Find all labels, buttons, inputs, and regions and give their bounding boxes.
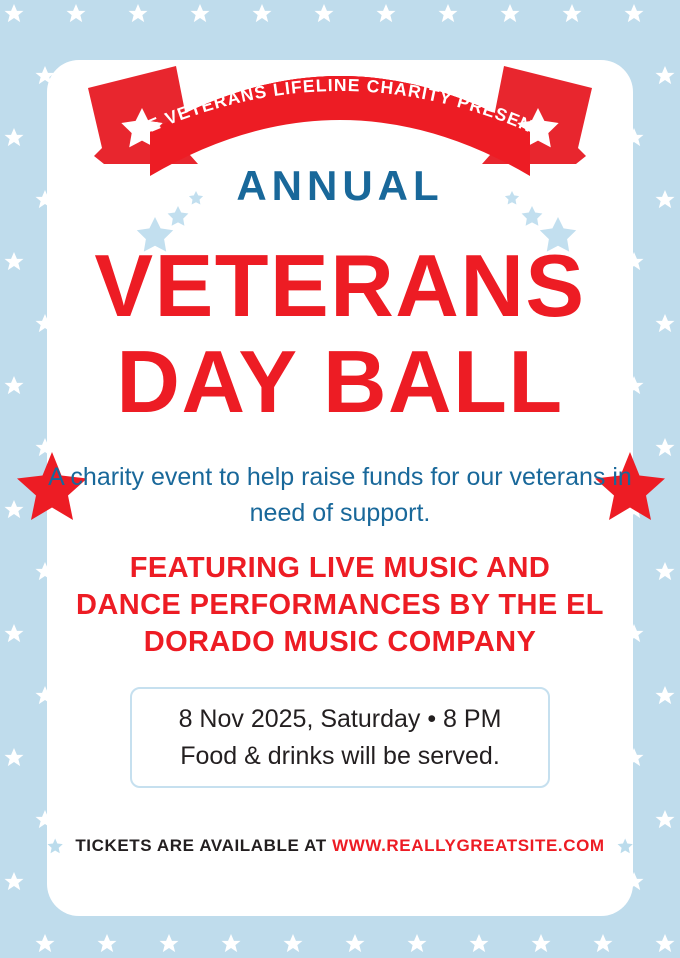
- ticket-website-link[interactable]: WWW.REALLYGREATSITE.COM: [332, 836, 605, 855]
- subtitle-description: A charity event to help raise funds for …: [47, 460, 633, 531]
- footer-star-left: [47, 834, 63, 858]
- poster-content: ANNUAL VETERANS DAY BALL A charity event…: [47, 60, 633, 916]
- event-details-box: 8 Nov 2025, Saturday • 8 PM Food & drink…: [130, 687, 550, 788]
- featuring-text: FEATURING LIVE MUSIC AND DANCE PERFORMAN…: [75, 550, 605, 661]
- footer-star-right: [617, 834, 633, 858]
- poster: THE VETERANS LIFELINE CHARITY PRESENTS A…: [0, 0, 680, 958]
- ticket-info-prefix: TICKETS ARE AVAILABLE AT: [75, 836, 332, 855]
- ticket-info-text: TICKETS ARE AVAILABLE AT WWW.REALLYGREAT…: [75, 836, 604, 856]
- title-line-2: DAY BALL: [47, 338, 633, 426]
- event-catering-note: Food & drinks will be served.: [180, 738, 500, 774]
- event-date-time: 8 Nov 2025, Saturday • 8 PM: [179, 701, 502, 737]
- title-line-1: VETERANS: [47, 242, 633, 330]
- ticket-footer: TICKETS ARE AVAILABLE AT WWW.REALLYGREAT…: [47, 834, 633, 858]
- eyebrow-annual: ANNUAL: [47, 165, 633, 207]
